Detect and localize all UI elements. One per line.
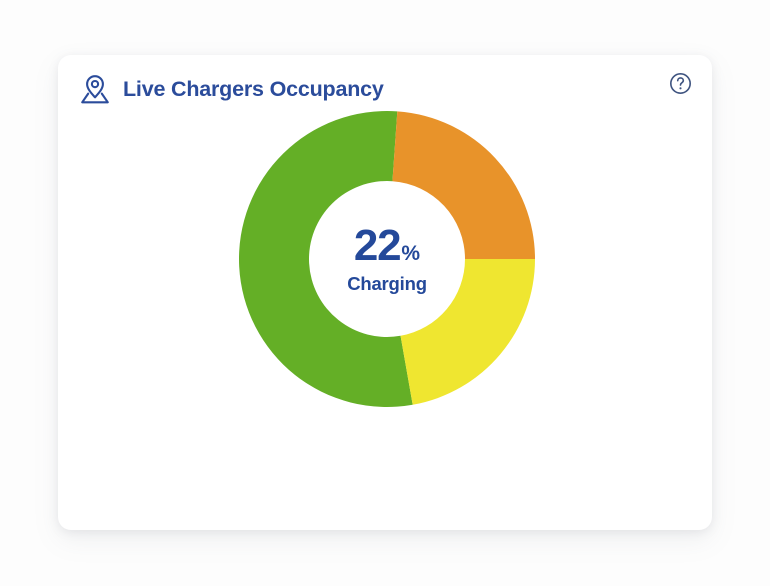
donut-slice-available[interactable] [239, 111, 413, 407]
donut-chart-svg [236, 108, 538, 410]
map-pin-icon [78, 73, 112, 107]
donut-slice-charging[interactable] [392, 111, 535, 259]
occupancy-donut-chart: 22 % Charging [236, 108, 538, 410]
page-title: Live Chargers Occupancy [123, 79, 384, 101]
card-header-title-group: Live Chargers Occupancy [78, 73, 384, 107]
donut-slice-out-of-service[interactable] [401, 259, 535, 405]
help-icon[interactable] [669, 72, 692, 95]
live-chargers-occupancy-card: Live Chargers Occupancy 22 % Charging [58, 55, 712, 530]
